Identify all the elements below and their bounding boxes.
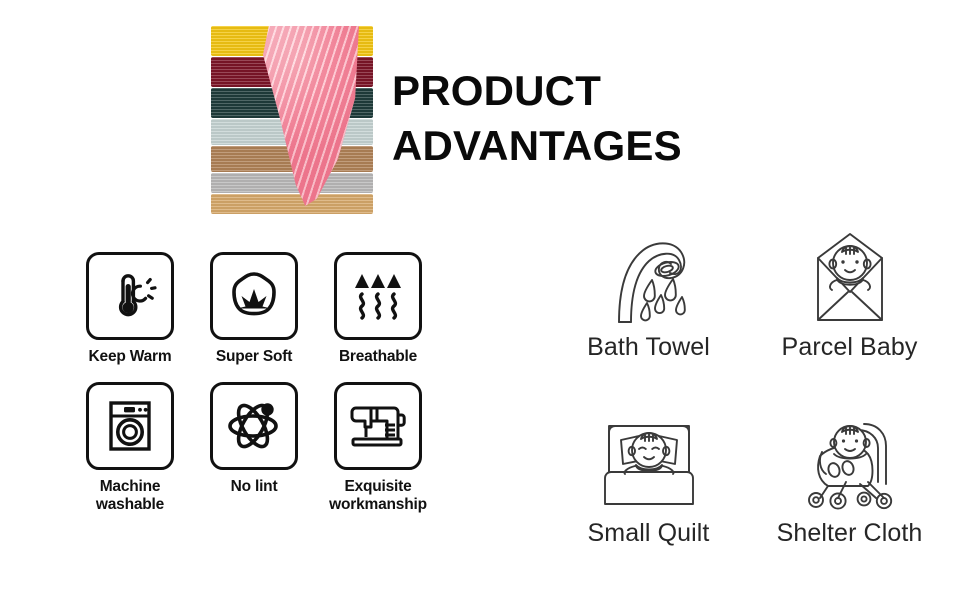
feature-label: No lint [231, 478, 278, 496]
stroller-wheel [830, 493, 845, 508]
cotton-boll-icon [225, 269, 283, 323]
feature-label: Exquisite workmanship [329, 478, 427, 514]
use-case-bath-towel[interactable]: Bath Towel [548, 228, 749, 362]
product-advantages-infographic: PRODUCT ADVANTAGES [0, 0, 970, 600]
use-case-label: Shelter Cloth [777, 520, 923, 548]
use-case-label: Small Quilt [588, 520, 710, 548]
towel-spiral-core [660, 264, 673, 273]
use-case-grid: Bath Towel [548, 228, 950, 547]
use-case-small-quilt[interactable]: Small Quilt [548, 414, 749, 548]
feature-no-lint[interactable]: No lint [192, 382, 316, 514]
feature-icon-box [86, 252, 174, 340]
baby-eye [841, 439, 844, 442]
water-drop [641, 303, 650, 320]
wavy-arrow [355, 274, 369, 318]
feature-icon-box [210, 382, 298, 470]
water-drop [644, 280, 655, 301]
use-case-label: Bath Towel [587, 334, 710, 362]
sun-glyph [132, 280, 155, 301]
baby-eye [854, 439, 857, 442]
feature-grid: Keep Warm Super Soft [68, 252, 440, 514]
feature-icon-box [334, 252, 422, 340]
feature-label: Super Soft [216, 348, 292, 366]
control-dot [144, 408, 148, 412]
feature-machine-washable[interactable]: Machine washable [68, 382, 192, 514]
baby-eye [855, 260, 858, 263]
use-case-row: Bath Towel [548, 228, 950, 362]
feature-icon-box [86, 382, 174, 470]
quilt [605, 472, 693, 504]
baby-envelope-icon [802, 230, 898, 326]
use-case-art [798, 414, 902, 512]
baby-stroller-icon [798, 416, 902, 512]
feature-keep-warm[interactable]: Keep Warm [68, 252, 192, 366]
use-case-shelter-cloth[interactable]: Shelter Cloth [749, 414, 950, 548]
feature-super-soft[interactable]: Super Soft [192, 252, 316, 366]
stroller-wheel [876, 493, 890, 507]
door-outer-ring [118, 420, 142, 444]
water-drop [676, 297, 685, 314]
handwheel [398, 415, 404, 425]
baby-in-bed-icon [599, 416, 699, 512]
water-drop [665, 279, 676, 300]
sewing-machine-icon [347, 399, 409, 453]
stroller-wheel [809, 493, 823, 507]
machine-base [353, 439, 401, 445]
thermometer-mercury [126, 284, 131, 304]
control-display [124, 407, 135, 412]
stroller-wheel [857, 492, 870, 505]
use-case-art [802, 228, 898, 326]
feature-row: Keep Warm Super Soft [68, 252, 440, 366]
up-arrows-icon [350, 268, 406, 324]
use-case-art [597, 228, 701, 326]
use-case-row: Small Quilt [548, 414, 950, 548]
baby-arm [863, 280, 870, 290]
feature-label: Keep Warm [89, 348, 172, 366]
stroller-wheel-hub [813, 497, 819, 503]
thermometer-sun-icon [102, 268, 158, 324]
stroller-wheel-hub [835, 498, 841, 504]
page-title: PRODUCT ADVANTAGES [392, 64, 722, 173]
use-case-art [599, 414, 699, 512]
washing-machine-icon [103, 398, 157, 454]
electron-dot [261, 403, 273, 415]
water-drop [655, 295, 664, 313]
feature-breathable[interactable]: Breathable [316, 252, 440, 366]
stroller-wheel-hub [861, 496, 866, 501]
door-inner-ring [124, 426, 137, 439]
control-dot [138, 408, 142, 412]
blanket-layer-sand [211, 194, 373, 214]
baby-arm [829, 280, 836, 290]
feature-label: Breathable [339, 348, 417, 366]
baby-eye [841, 260, 844, 263]
blanket-stack [211, 26, 373, 214]
feature-exquisite-workmanship[interactable]: Exquisite workmanship [316, 382, 440, 514]
use-case-parcel-baby[interactable]: Parcel Baby [749, 228, 950, 362]
stacked-plush-blankets-photo [203, 12, 381, 217]
wavy-arrow [371, 274, 385, 318]
feature-row: Machine washable No lint [68, 382, 440, 514]
wavy-arrow [387, 274, 401, 318]
orbit [230, 416, 276, 436]
feature-icon-box [210, 252, 298, 340]
atom-icon [225, 397, 283, 455]
blanket-layer-light-gray [211, 173, 373, 193]
stroller-wheel-hub [881, 498, 887, 504]
feature-label: Machine washable [96, 478, 164, 514]
rolled-towel-drops-icon [597, 230, 701, 326]
feature-icon-box [334, 382, 422, 470]
cotton-leaf-star [237, 289, 271, 309]
use-case-label: Parcel Baby [782, 334, 918, 362]
